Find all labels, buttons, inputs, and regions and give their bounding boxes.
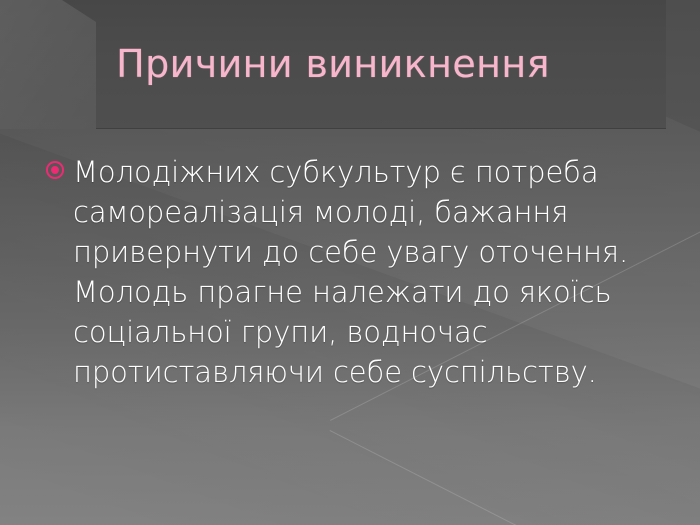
slide-body: Молодіжних субкультур є потреба самореал… (46, 152, 686, 392)
list-item: Молодіжних субкультур є потреба самореал… (46, 152, 686, 392)
presentation-slide: Причини виникнення Молодіжних субкультур… (0, 0, 700, 525)
background-hairline-down (330, 430, 700, 525)
slide-title: Причини виникнення (0, 42, 666, 86)
bullet-text: Молодіжних субкультур є потреба самореал… (73, 152, 686, 392)
ring-dot-bullet-icon (46, 161, 64, 179)
